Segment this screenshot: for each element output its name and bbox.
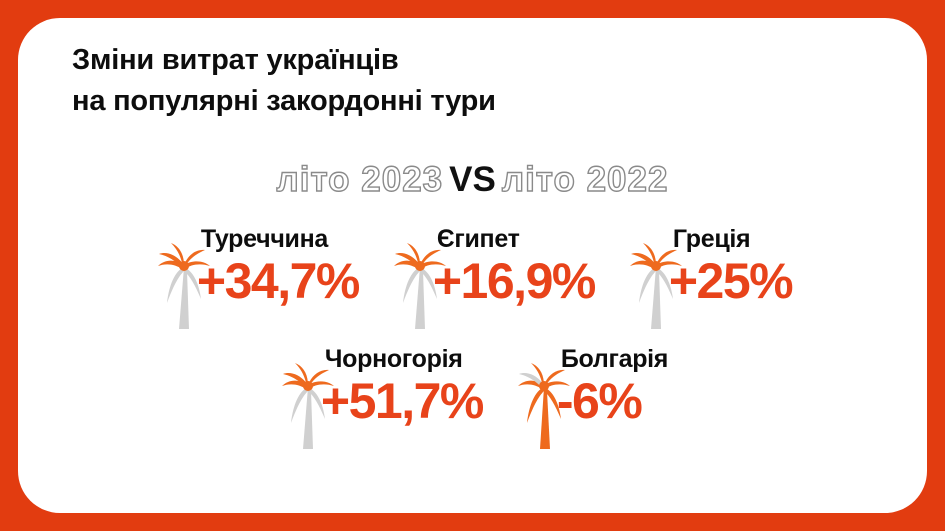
subtitle-right-period: літо 2022 (502, 160, 669, 199)
stat-text: Чорногорія +51,7% (321, 345, 483, 427)
stats-row-2: Чорногорія +51,7% (18, 345, 927, 457)
stat-item: Болгарія -6% (513, 345, 668, 457)
country-label: Греція (673, 225, 751, 253)
stats-row-1: Туреччина +34,7% (18, 225, 927, 337)
title-line-2: на популярні закордонні тури (72, 85, 496, 117)
percent-value: +16,9% (433, 255, 595, 307)
stat-item: Греція +25% (625, 225, 792, 337)
subtitle: літо 2023VSліто 2022 (18, 158, 927, 202)
percent-value: +34,7% (197, 255, 359, 307)
subtitle-left-period: літо 2023 (277, 160, 444, 199)
page-title: Зміни витрат українців на популярні зако… (72, 40, 496, 122)
subtitle-vs-label: VS (449, 160, 496, 199)
stat-text: Єгипет +16,9% (433, 225, 595, 307)
stat-item: Туреччина +34,7% (153, 225, 359, 337)
infographic-frame: Зміни витрат українців на популярні зако… (0, 0, 945, 531)
percent-value: +25% (669, 255, 792, 307)
stat-text: Болгарія -6% (557, 345, 668, 427)
title-line-1: Зміни витрат українців (72, 44, 399, 76)
percent-value: -6% (557, 375, 641, 427)
country-label: Болгарія (561, 345, 668, 373)
stat-text: Греція +25% (669, 225, 792, 307)
stat-item: Єгипет +16,9% (389, 225, 595, 337)
country-label: Туреччина (201, 225, 328, 253)
stat-item: Чорногорія +51,7% (277, 345, 483, 457)
country-label: Єгипет (437, 225, 520, 253)
country-label: Чорногорія (325, 345, 463, 373)
percent-value: +51,7% (321, 375, 483, 427)
stat-text: Туреччина +34,7% (197, 225, 359, 307)
content-card: Зміни витрат українців на популярні зако… (18, 18, 927, 513)
